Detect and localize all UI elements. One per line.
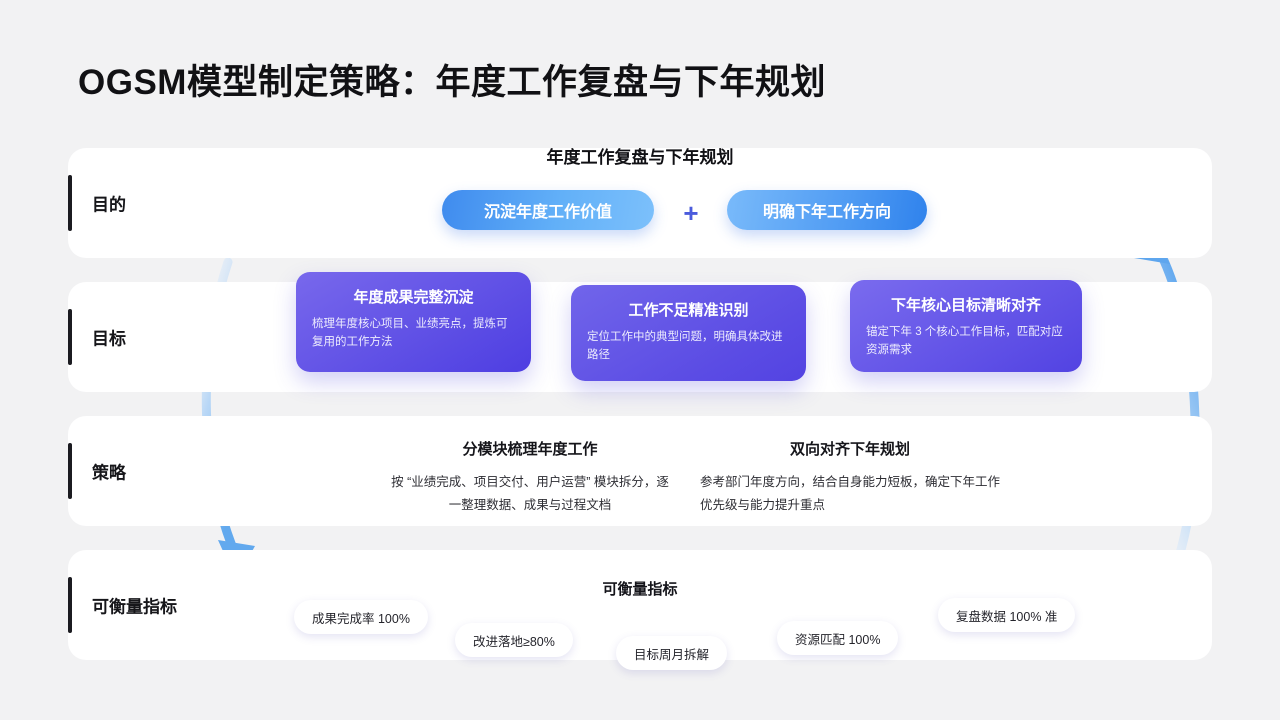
objective-card-2[interactable]: 工作不足精准识别 定位工作中的典型问题，明确具体改进路径 xyxy=(571,285,806,381)
slide-root: OGSM模型制定策略：年度工作复盘与下年规划 xyxy=(0,0,1280,720)
content-layer: 年度工作复盘与下年规划 沉淀年度工作价值 + 明确下年工作方向 年度成果完整沉淀… xyxy=(0,0,1280,720)
objective-card-title: 下年核心目标清晰对齐 xyxy=(866,294,1066,315)
strategy-title: 双向对齐下年规划 xyxy=(700,438,1000,459)
strategy-desc: 参考部门年度方向，结合自身能力短板，确定下年工作优先级与能力提升重点 xyxy=(700,471,1000,517)
measure-chip-2[interactable]: 改进落地≥80% xyxy=(455,623,573,657)
plus-symbol: + xyxy=(678,198,704,229)
objective-card-desc: 锚定下年 3 个核心工作目标，匹配对应资源需求 xyxy=(866,324,1066,360)
strategy-desc: 按 “业绩完成、项目交付、用户运营” 模块拆分，逐一整理数据、成果与过程文档 xyxy=(385,471,675,517)
measure-chip-5[interactable]: 复盘数据 100% 准 xyxy=(938,598,1075,632)
strategy-title: 分模块梳理年度工作 xyxy=(385,438,675,459)
objective-card-title: 工作不足精准识别 xyxy=(587,299,790,320)
strategy-item-2: 双向对齐下年规划 参考部门年度方向，结合自身能力短板，确定下年工作优先级与能力提… xyxy=(700,438,1000,517)
objective-card-3[interactable]: 下年核心目标清晰对齐 锚定下年 3 个核心工作目标，匹配对应资源需求 xyxy=(850,280,1082,372)
objective-card-title: 年度成果完整沉淀 xyxy=(312,286,515,307)
purpose-pill-left[interactable]: 沉淀年度工作价值 xyxy=(442,190,654,230)
measure-chip-4[interactable]: 资源匹配 100% xyxy=(777,621,898,655)
measures-heading: 可衡量指标 xyxy=(0,578,1280,599)
measure-chip-1[interactable]: 成果完成率 100% xyxy=(294,600,428,634)
purpose-pill-right[interactable]: 明确下年工作方向 xyxy=(727,190,927,230)
objective-card-desc: 梳理年度核心项目、业绩亮点，提炼可复用的工作方法 xyxy=(312,316,515,352)
objective-card-1[interactable]: 年度成果完整沉淀 梳理年度核心项目、业绩亮点，提炼可复用的工作方法 xyxy=(296,272,531,372)
objective-card-desc: 定位工作中的典型问题，明确具体改进路径 xyxy=(587,329,790,365)
purpose-heading: 年度工作复盘与下年规划 xyxy=(0,143,1280,168)
measure-chip-3[interactable]: 目标周月拆解 xyxy=(616,636,727,670)
strategy-item-1: 分模块梳理年度工作 按 “业绩完成、项目交付、用户运营” 模块拆分，逐一整理数据… xyxy=(385,438,675,517)
